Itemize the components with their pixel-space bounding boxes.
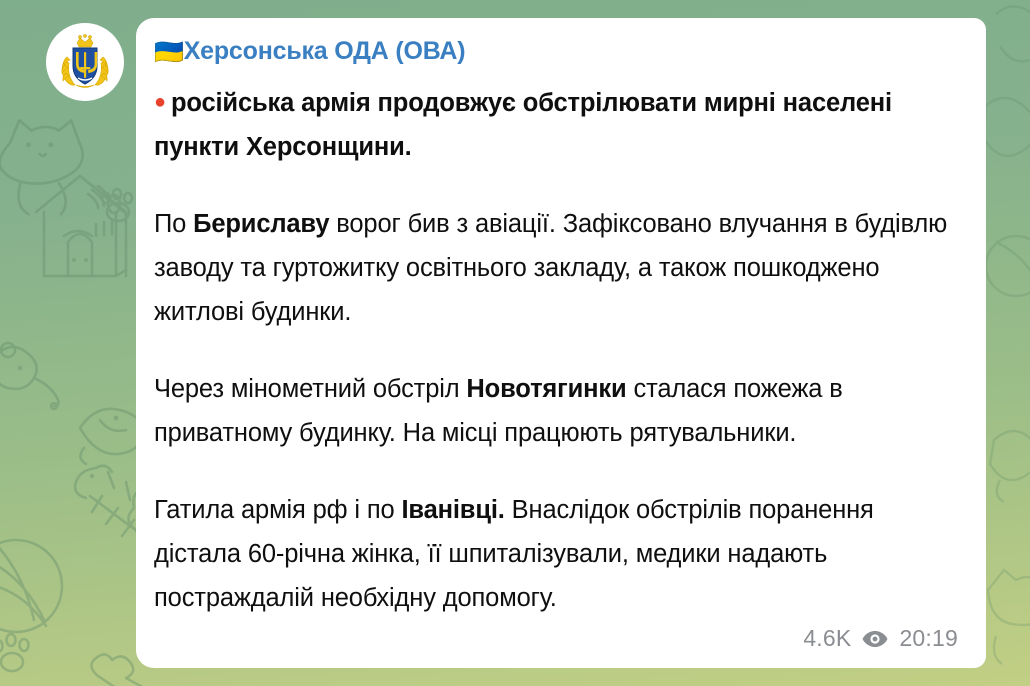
paragraph-1-run-1: російська армія продовжує обстрілювати м… bbox=[154, 89, 892, 161]
place-name-beryslav: Бериславу bbox=[193, 210, 329, 238]
red-circle-icon: ● bbox=[154, 91, 166, 113]
paragraph-3: Через мінометний обстріл Новотягинки ста… bbox=[154, 367, 964, 455]
place-name-ivanivka: Іванівці. bbox=[401, 496, 504, 524]
view-count: 4.6K bbox=[803, 625, 851, 652]
eye-icon bbox=[862, 630, 888, 648]
telegram-message-screenshot: 🇺🇦Херсонська ОДА (ОВА) ●російська армія … bbox=[0, 0, 1030, 686]
paragraph-4-run-1: Гатила армія рф і по bbox=[154, 496, 401, 524]
message-bubble[interactable]: 🇺🇦Херсонська ОДА (ОВА) ●російська армія … bbox=[136, 18, 986, 668]
paragraph-2-run-1: По bbox=[154, 210, 193, 238]
paragraph-spacer bbox=[154, 169, 964, 202]
paragraph-3-run-1: Через мінометний обстріл bbox=[154, 375, 466, 403]
timestamp: 20:19 bbox=[899, 625, 958, 652]
paragraph-spacer bbox=[154, 334, 964, 367]
paragraph-1: ●російська армія продовжує обстрілювати … bbox=[154, 80, 964, 169]
paragraph-2: По Бериславу ворог бив з авіації. Зафікс… bbox=[154, 202, 964, 334]
channel-title-text: Херсонська ОДА (ОВА) bbox=[184, 37, 466, 65]
message-meta: 4.6K 20:19 bbox=[803, 625, 958, 652]
ukraine-flag-icon: 🇺🇦 bbox=[154, 39, 184, 66]
place-name-novotyahynka: Новотягинки bbox=[466, 375, 626, 403]
message-text: ●російська армія продовжує обстрілювати … bbox=[154, 80, 964, 620]
channel-title[interactable]: 🇺🇦Херсонська ОДА (ОВА) bbox=[154, 36, 964, 68]
paragraph-spacer bbox=[154, 455, 964, 488]
paragraph-4: Гатила армія рф і по Іванівці. Внаслідок… bbox=[154, 488, 964, 620]
avatar[interactable] bbox=[46, 23, 124, 101]
